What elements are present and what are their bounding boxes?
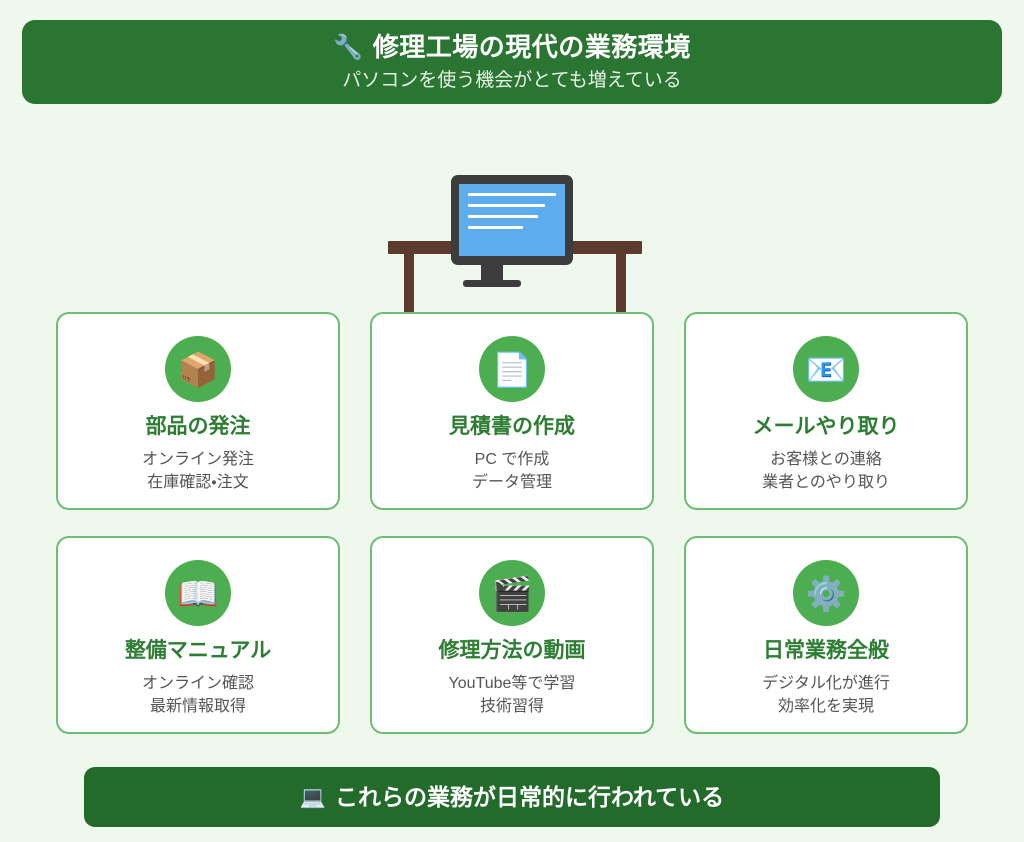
card-title: 修理方法の動画: [439, 638, 586, 663]
card-title: 部品の発注: [146, 414, 251, 439]
infographic-page: 🔧 修理工場の現代の業務環境 パソコンを使う機会がとても増えている 📦 部品の発…: [0, 0, 1024, 842]
card-description-line: お客様との連絡: [762, 448, 890, 471]
card-description: お客様との連絡 業者とのやり取り: [762, 448, 890, 494]
task-card-parts-order[interactable]: 📦 部品の発注 オンライン発注 在庫確認・注文: [56, 312, 340, 510]
card-description: オンライン発注 在庫確認・注文: [142, 448, 254, 494]
card-description-line: YouTube等で学習: [449, 672, 576, 695]
card-title: メールやり取り: [753, 414, 900, 439]
card-description: PC で作成 データ管理: [472, 448, 552, 494]
task-card-quotation[interactable]: 📄 見積書の作成 PC で作成 データ管理: [370, 312, 654, 510]
footer-banner: 💻 これらの業務が日常的に行われている: [84, 767, 940, 827]
card-description-line: デジタル化が進行: [762, 672, 890, 695]
desk-leg-right: [616, 254, 626, 312]
gear-icon: ⚙️: [793, 560, 859, 626]
card-description-line: データ管理: [472, 471, 552, 494]
monitor-base: [463, 280, 521, 287]
task-card-manual[interactable]: 📖 整備マニュアル オンライン確認 最新情報取得: [56, 536, 340, 734]
monitor: [451, 175, 573, 265]
page-title-text: 修理工場の現代の業務環境: [373, 33, 691, 63]
task-card-daily-operations[interactable]: ⚙️ 日常業務全般 デジタル化が進行 効率化を実現: [684, 536, 968, 734]
screen-text-line: [468, 215, 538, 218]
page-title: 🔧 修理工場の現代の業務環境: [333, 33, 690, 63]
card-description-line: 業者とのやり取り: [762, 471, 890, 494]
card-description-line: 最新情報取得: [142, 695, 254, 718]
card-description-line: PC で作成: [472, 448, 552, 471]
task-card-repair-video[interactable]: 🎬 修理方法の動画 YouTube等で学習 技術習得: [370, 536, 654, 734]
monitor-screen: [459, 184, 565, 256]
wrench-icon: 🔧: [333, 36, 363, 60]
package-icon: 📦: [165, 336, 231, 402]
open-book-icon: 📖: [165, 560, 231, 626]
card-title: 整備マニュアル: [125, 638, 271, 663]
clapper-board-icon: 🎬: [479, 560, 545, 626]
desk-leg-left: [404, 254, 414, 312]
card-description: オンライン確認 最新情報取得: [142, 672, 254, 718]
card-description-line: オンライン発注: [142, 448, 254, 471]
screen-text-line: [468, 226, 523, 229]
card-title: 見積書の作成: [449, 414, 575, 439]
footer-text: これらの業務が日常的に行われている: [335, 784, 724, 810]
screen-text-line: [468, 193, 556, 196]
page-subtitle: パソコンを使う機会がとても増えている: [342, 70, 682, 92]
card-description: デジタル化が進行 効率化を実現: [762, 672, 890, 718]
screen-text-line: [468, 204, 545, 207]
card-description-line: 在庫確認・注文: [142, 471, 254, 494]
card-description-line: 技術習得: [449, 695, 576, 718]
email-icon: 📧: [793, 336, 859, 402]
document-icon: 📄: [479, 336, 545, 402]
card-description-line: 効率化を実現: [762, 695, 890, 718]
card-description-line: オンライン確認: [142, 672, 254, 695]
task-card-grid: 📦 部品の発注 オンライン発注 在庫確認・注文 📄 見積書の作成 PC で作成 …: [56, 312, 968, 734]
card-title: 日常業務全般: [763, 638, 889, 663]
desk-with-monitor-illustration: [380, 160, 650, 315]
card-description: YouTube等で学習 技術習得: [449, 672, 576, 718]
task-card-email[interactable]: 📧 メールやり取り お客様との連絡 業者とのやり取り: [684, 312, 968, 510]
laptop-icon: 💻: [300, 787, 326, 808]
header-banner: 🔧 修理工場の現代の業務環境 パソコンを使う機会がとても増えている: [22, 20, 1002, 104]
